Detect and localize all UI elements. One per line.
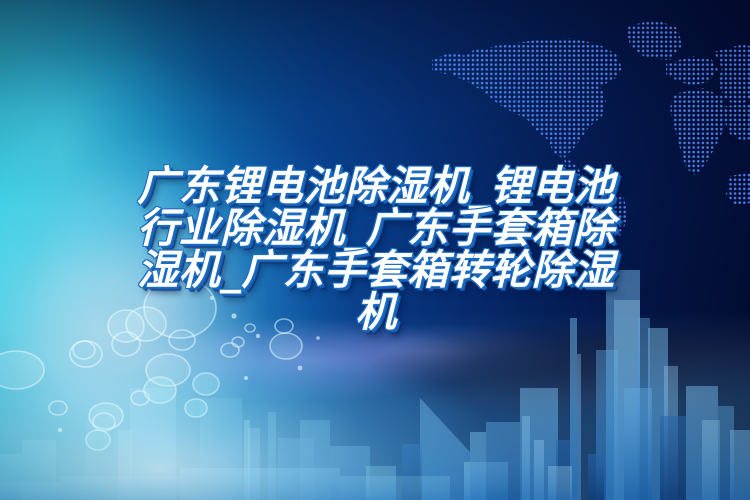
banner-image: 广东锂电池除湿机_锂电池 行业除湿机_广东手套箱除 湿机_广东手套箱转轮除湿 机 bbox=[0, 0, 750, 500]
headline-line-1: 广东锂电池除湿机_锂电池 bbox=[108, 166, 644, 207]
headline-line-2: 行业除湿机_广东手套箱除 bbox=[108, 208, 644, 249]
page-title: 广东锂电池除湿机_锂电池 行业除湿机_广东手套箱除 湿机_广东手套箱转轮除湿 机 bbox=[108, 166, 644, 334]
headline-line-4: 机 bbox=[108, 292, 644, 333]
headline-line-3: 湿机_广东手套箱转轮除湿 bbox=[108, 250, 644, 291]
